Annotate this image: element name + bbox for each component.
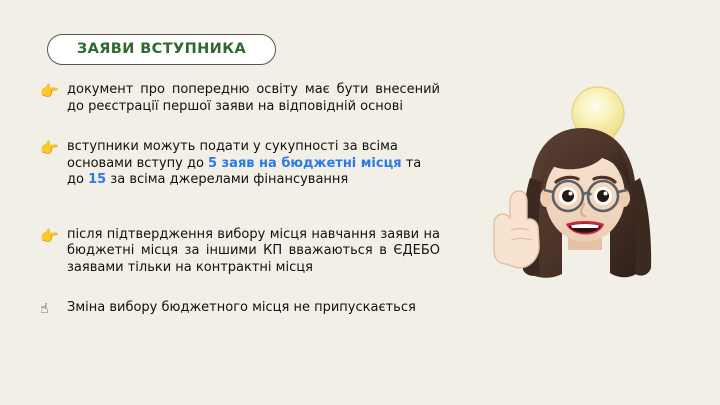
list-item-text-part: за всіма джерелами фінансування [106,172,348,187]
list-item: 👉 документ про попередню освіту має бути… [40,82,440,115]
highlight-total-applications: 15 [88,172,106,187]
list-item-text: Зміна вибору бюджетного місця не припуск… [67,300,440,317]
list-item: 👉 вступники можуть подати у сукупності з… [40,139,440,189]
pointing-right-hand-icon: 👉 [40,82,62,100]
pointing-right-hand-icon: 👉 [40,227,62,245]
content-list: 👉 документ про попередню освіту має бути… [40,82,440,317]
page-title-badge: ЗАЯВИ ВСТУПНИКА [47,34,276,65]
highlight-budget-applications: 5 заяв на бюджетні місця [208,156,402,171]
pointing-up-finger-icon: ☝ [40,300,62,318]
list-item-text: вступники можуть подати у сукупності за … [67,139,440,189]
list-item-text: документ про попередню освіту має бути в… [67,82,440,115]
slide-canvas: ЗАЯВИ ВСТУПНИКА 👉 документ про попередню… [0,0,720,405]
pointing-right-hand-icon: 👉 [40,139,62,157]
list-item: 👉 після підтвердження вибору місця навча… [40,227,440,277]
page-title: ЗАЯВИ ВСТУПНИКА [77,42,246,57]
memoji-woman-with-idea-illustration [490,78,680,304]
list-item-text: після підтвердження вибору місця навчанн… [67,227,440,277]
list-item: ☝ Зміна вибору бюджетного місця не припу… [40,300,440,317]
